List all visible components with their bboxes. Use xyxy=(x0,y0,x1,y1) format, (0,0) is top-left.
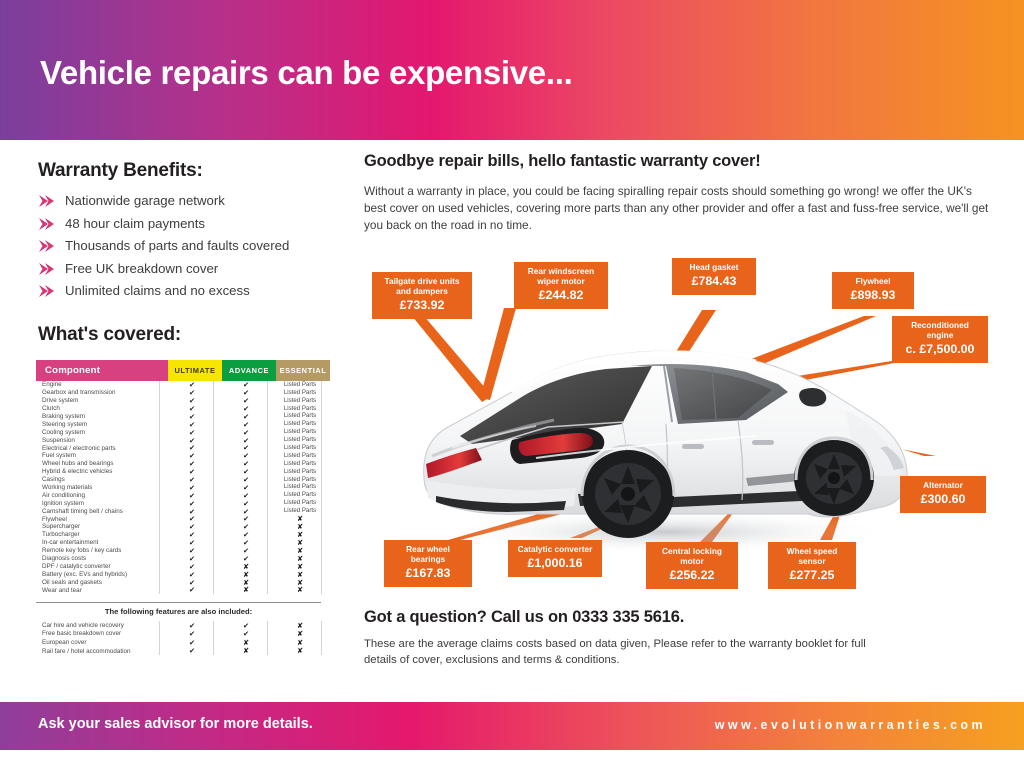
callout-label: Catalytic converter xyxy=(516,545,594,555)
cell-essential: Listed Parts xyxy=(273,406,327,412)
row-component: Air conditioning xyxy=(36,492,165,499)
callout-price: £733.92 xyxy=(380,298,464,314)
callout-price: £256.22 xyxy=(654,568,730,584)
cell-essential: Listed Parts xyxy=(273,508,327,514)
row-component: Free basic breakdown cover xyxy=(36,630,165,637)
callout-price: c. £7,500.00 xyxy=(900,342,980,358)
cell-advance: ✔ xyxy=(219,421,273,428)
callout-price: £244.82 xyxy=(522,288,600,304)
benefits-list: Nationwide garage network48 hour claim p… xyxy=(38,194,338,298)
benefit-label: Unlimited claims and no excess xyxy=(65,284,250,297)
header-banner: Vehicle repairs can be expensive... xyxy=(0,0,1024,140)
cell-essential: ✘ xyxy=(273,639,327,646)
col-header-component: Component xyxy=(36,360,168,381)
cell-essential: Listed Parts xyxy=(273,429,327,435)
main-intro: Goodbye repair bills, hello fantastic wa… xyxy=(364,152,996,233)
cell-advance: ✘ xyxy=(219,586,273,593)
table-row: Engine✔✔Listed Parts xyxy=(36,381,321,389)
table-divider xyxy=(267,621,268,655)
table-divider xyxy=(321,621,322,655)
table-row: Diagnosis costs✔✔✘ xyxy=(36,555,321,563)
callout-label: Rear windscreen wiper motor xyxy=(522,267,600,287)
row-component: Rail fare / hotel accommodation xyxy=(36,648,165,655)
callout-wheel-speed-sensor: Wheel speed sensor £277.25 xyxy=(768,542,856,589)
row-component: Supercharger xyxy=(36,523,165,530)
cell-advance: ✔ xyxy=(219,622,273,629)
cell-essential: Listed Parts xyxy=(273,421,327,427)
cell-essential: Listed Parts xyxy=(273,390,327,396)
chevron-right-icon xyxy=(38,217,55,231)
callout-price: £300.60 xyxy=(908,492,978,508)
cell-advance: ✔ xyxy=(219,429,273,436)
callout-label: Rear wheel bearings xyxy=(392,545,464,565)
row-component: Fuel system xyxy=(36,452,165,459)
callout-label: Tailgate drive units and dampers xyxy=(380,277,464,297)
callout-label: Wheel speed sensor xyxy=(776,547,848,567)
car-illustration xyxy=(416,328,916,558)
cell-ultimate: ✔ xyxy=(165,429,219,436)
row-component: Engine xyxy=(36,381,165,388)
row-component: Electrical / electronic parts xyxy=(36,445,165,452)
table-row: Steering system✔✔Listed Parts xyxy=(36,420,321,428)
chevron-right-icon xyxy=(38,284,55,298)
row-component: Steering system xyxy=(36,421,165,428)
covered-heading: What's covered: xyxy=(38,324,338,346)
benefit-item: 48 hour claim payments xyxy=(38,217,338,231)
callout-label: Head gasket xyxy=(680,263,748,273)
callout-rear-wheel-bearings: Rear wheel bearings £167.83 xyxy=(384,540,472,587)
cell-ultimate: ✔ xyxy=(165,586,219,593)
cell-ultimate: ✔ xyxy=(165,500,219,507)
cell-essential: ✘ xyxy=(273,586,327,593)
callout-price: £784.43 xyxy=(680,274,748,290)
chevron-right-icon xyxy=(38,239,55,253)
coverage-table: Component ULTIMATE ADVANCE ESSENTIAL Eng… xyxy=(36,360,321,655)
benefit-label: 48 hour claim payments xyxy=(65,217,205,230)
table-divider xyxy=(321,381,322,594)
cell-ultimate: ✔ xyxy=(165,571,219,578)
benefits-heading: Warranty Benefits: xyxy=(38,160,338,182)
cell-advance: ✔ xyxy=(219,500,273,507)
cell-advance: ✘ xyxy=(219,571,273,578)
table-row: Camshaft timing belt / chains✔✔Listed Pa… xyxy=(36,507,321,515)
cell-essential: Listed Parts xyxy=(273,492,327,498)
cell-essential: Listed Parts xyxy=(273,461,327,467)
row-component: Drive system xyxy=(36,397,165,404)
also-included-section: The following features are also included… xyxy=(36,602,321,655)
callout-alternator: Alternator £300.60 xyxy=(900,476,986,513)
table-row: Suspension✔✔Listed Parts xyxy=(36,436,321,444)
table-row: European cover✔✘✘ xyxy=(36,638,321,647)
cell-essential: Listed Parts xyxy=(273,500,327,506)
page-title: Vehicle repairs can be expensive... xyxy=(40,54,572,92)
cell-essential: ✘ xyxy=(273,630,327,637)
row-component: Casings xyxy=(36,476,165,483)
table-row: Fuel system✔✔Listed Parts xyxy=(36,452,321,460)
row-component: Car hire and vehicle recovery xyxy=(36,622,165,629)
table-row: Braking system✔✔Listed Parts xyxy=(36,413,321,421)
chevron-right-icon xyxy=(38,262,55,276)
table-row: Turbocharger✔✔✘ xyxy=(36,531,321,539)
cell-essential: Listed Parts xyxy=(273,437,327,443)
row-component: Cooling system xyxy=(36,429,165,436)
row-component: Camshaft timing belt / chains xyxy=(36,508,165,515)
cell-essential: Listed Parts xyxy=(273,484,327,490)
table-row: DPF / catalytic converter✔✘✘ xyxy=(36,562,321,570)
table-row: Clutch✔✔Listed Parts xyxy=(36,405,321,413)
table-row: Gearbox and transmission✔✔Listed Parts xyxy=(36,389,321,397)
row-component: Gearbox and transmission xyxy=(36,389,165,396)
footer-bar: Ask your sales advisor for more details.… xyxy=(0,702,1024,750)
table-divider xyxy=(213,621,214,655)
row-component: Turbocharger xyxy=(36,531,165,538)
cell-essential: Listed Parts xyxy=(273,382,327,388)
table-row: Flywheel✔✔✘ xyxy=(36,515,321,523)
table-row: Free basic breakdown cover✔✔✘ xyxy=(36,630,321,639)
coverage-table-header: Component ULTIMATE ADVANCE ESSENTIAL xyxy=(36,360,321,381)
callout-price: £277.25 xyxy=(776,568,848,584)
row-component: Diagnosis costs xyxy=(36,555,165,562)
car-diagram: Tailgate drive units and dampers £733.92… xyxy=(364,250,1012,595)
also-included-title: The following features are also included… xyxy=(36,607,321,616)
cell-ultimate: ✔ xyxy=(165,647,219,654)
callout-price: £167.83 xyxy=(392,566,464,582)
cell-ultimate: ✔ xyxy=(165,630,219,637)
table-divider xyxy=(267,381,268,594)
cell-essential: ✘ xyxy=(273,563,327,570)
table-row: Rail fare / hotel accommodation✔✘✘ xyxy=(36,647,321,656)
benefit-label: Thousands of parts and faults covered xyxy=(65,239,289,252)
infographic-page: Vehicle repairs can be expensive... Warr… xyxy=(0,0,1024,768)
cell-essential: Listed Parts xyxy=(273,398,327,404)
row-component: Flywheel xyxy=(36,516,165,523)
table-row: Wear and tear✔✘✘ xyxy=(36,586,321,594)
main-body-text: Without a warranty in place, you could b… xyxy=(364,183,996,233)
cell-essential: Listed Parts xyxy=(273,477,327,483)
cell-ultimate: ✔ xyxy=(165,639,219,646)
callout-flywheel: Flywheel £898.93 xyxy=(832,272,914,309)
cell-ultimate: ✔ xyxy=(165,622,219,629)
cta-heading: Got a question? Call us on 0333 335 5616… xyxy=(364,608,884,627)
row-component: DPF / catalytic converter xyxy=(36,563,165,570)
benefit-item: Thousands of parts and faults covered xyxy=(38,239,338,253)
row-component: Battery (exc. EVs and hybrids) xyxy=(36,571,165,578)
chevron-right-icon xyxy=(38,194,55,208)
callout-tailgate: Tailgate drive units and dampers £733.92 xyxy=(372,272,472,319)
benefit-label: Free UK breakdown cover xyxy=(65,262,218,275)
callout-head-gasket: Head gasket £784.43 xyxy=(672,258,756,295)
cell-essential: ✘ xyxy=(273,571,327,578)
table-row: Wheel hubs and bearings✔✔Listed Parts xyxy=(36,460,321,468)
main-heading: Goodbye repair bills, hello fantastic wa… xyxy=(364,152,996,171)
col-header-essential: ESSENTIAL xyxy=(276,360,330,381)
table-divider xyxy=(213,381,214,594)
table-row: In-car entertainment✔✔✘ xyxy=(36,539,321,547)
table-row: Remote key fobs / key cards✔✔✘ xyxy=(36,547,321,555)
table-row: Working materials✔✔Listed Parts xyxy=(36,484,321,492)
sidebar: Warranty Benefits: Nationwide garage net… xyxy=(38,160,338,358)
col-header-ultimate: ULTIMATE xyxy=(168,360,222,381)
cell-ultimate: ✔ xyxy=(165,421,219,428)
row-component: Ignition system xyxy=(36,500,165,507)
row-component: Remote key fobs / key cards xyxy=(36,547,165,554)
callout-catalytic-converter: Catalytic converter £1,000.16 xyxy=(508,540,602,577)
benefit-label: Nationwide garage network xyxy=(65,194,225,207)
coverage-table-body: Engine✔✔Listed PartsGearbox and transmis… xyxy=(36,381,321,594)
row-component: Hybrid & electric vehicles xyxy=(36,468,165,475)
table-row: Casings✔✔Listed Parts xyxy=(36,476,321,484)
footer-cta-text: Ask your sales advisor for more details. xyxy=(38,716,313,732)
row-component: Wheel hubs and bearings xyxy=(36,460,165,467)
callout-label: Reconditioned engine xyxy=(900,321,980,341)
table-row: Oil seals and gaskets✔✘✘ xyxy=(36,578,321,586)
row-component: Working materials xyxy=(36,484,165,491)
footer-website-url[interactable]: www.evolutionwarranties.com xyxy=(715,718,986,732)
benefit-item: Nationwide garage network xyxy=(38,194,338,208)
col-header-advance: ADVANCE xyxy=(222,360,276,381)
table-row: Drive system✔✔Listed Parts xyxy=(36,397,321,405)
callout-label: Flywheel xyxy=(840,277,906,287)
cell-essential: Listed Parts xyxy=(273,453,327,459)
cell-essential: Listed Parts xyxy=(273,413,327,419)
also-included-body: Car hire and vehicle recovery✔✔✘Free bas… xyxy=(36,621,321,655)
table-row: Supercharger✔✔✘ xyxy=(36,523,321,531)
table-divider xyxy=(159,381,160,594)
cell-advance: ✔ xyxy=(219,630,273,637)
callout-label: Central locking motor xyxy=(654,547,730,567)
row-component: Braking system xyxy=(36,413,165,420)
benefit-item: Free UK breakdown cover xyxy=(38,262,338,276)
cell-advance: ✘ xyxy=(219,563,273,570)
table-row: Electrical / electronic parts✔✔Listed Pa… xyxy=(36,444,321,452)
callout-price: £1,000.16 xyxy=(516,556,594,572)
cell-essential: Listed Parts xyxy=(273,445,327,451)
cell-essential: ✘ xyxy=(273,647,327,654)
cell-essential: Listed Parts xyxy=(273,469,327,475)
cta-section: Got a question? Call us on 0333 335 5616… xyxy=(364,608,884,669)
cell-advance: ✘ xyxy=(219,647,273,654)
callout-price: £898.93 xyxy=(840,288,906,304)
row-component: Oil seals and gaskets xyxy=(36,579,165,586)
table-row: Car hire and vehicle recovery✔✔✘ xyxy=(36,621,321,630)
table-row: Air conditioning✔✔Listed Parts xyxy=(36,491,321,499)
row-component: Wear and tear xyxy=(36,587,165,594)
row-component: Clutch xyxy=(36,405,165,412)
cell-advance: ✔ xyxy=(219,492,273,499)
row-component: European cover xyxy=(36,639,165,646)
disclaimer-text: These are the average claims costs based… xyxy=(364,636,884,669)
callout-wiper-motor: Rear windscreen wiper motor £244.82 xyxy=(514,262,608,309)
cell-ultimate: ✔ xyxy=(165,563,219,570)
table-divider xyxy=(159,621,160,655)
cell-advance: ✘ xyxy=(219,639,273,646)
cell-essential: ✘ xyxy=(273,622,327,629)
callout-label: Alternator xyxy=(908,481,978,491)
row-component: In-car entertainment xyxy=(36,539,165,546)
callout-central-locking-motor: Central locking motor £256.22 xyxy=(646,542,738,589)
callout-reconditioned-engine: Reconditioned engine c. £7,500.00 xyxy=(892,316,988,363)
row-component: Suspension xyxy=(36,437,165,444)
table-row: Battery (exc. EVs and hybrids)✔✘✘ xyxy=(36,570,321,578)
cell-ultimate: ✔ xyxy=(165,492,219,499)
benefit-item: Unlimited claims and no excess xyxy=(38,284,338,298)
table-row: Ignition system✔✔Listed Parts xyxy=(36,499,321,507)
table-row: Cooling system✔✔Listed Parts xyxy=(36,428,321,436)
table-row: Hybrid & electric vehicles✔✔Listed Parts xyxy=(36,468,321,476)
